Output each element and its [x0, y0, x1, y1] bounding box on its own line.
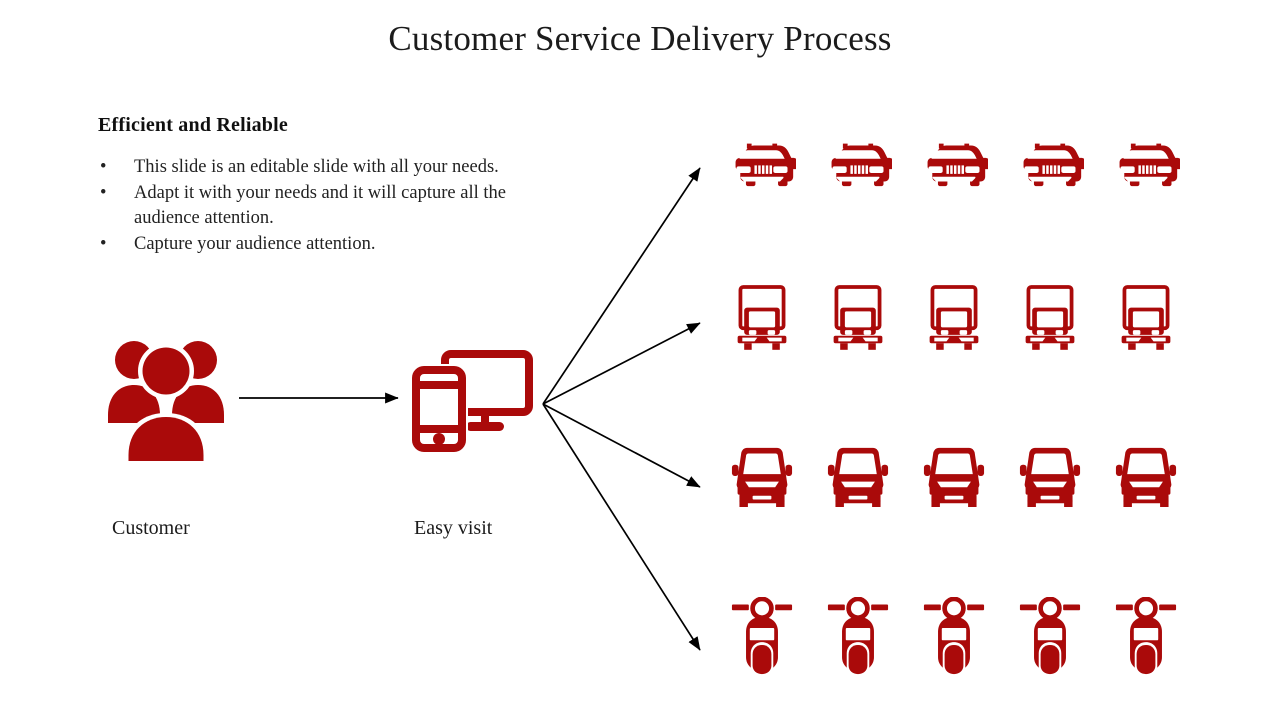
truck-front-icon — [714, 283, 810, 351]
van-front-icon — [1098, 445, 1194, 507]
scooter-front-icon — [906, 597, 1002, 676]
fleet-row-vans — [714, 445, 1194, 507]
arrow-fanout-trucks — [543, 323, 700, 404]
car-front-icon — [906, 138, 1002, 189]
stage-label-easy-visit: Easy visit — [414, 517, 492, 540]
van-front-icon — [714, 445, 810, 507]
slide-canvas: Customer Service Delivery Process Effici… — [0, 0, 1280, 720]
car-front-icon — [810, 138, 906, 189]
lead-heading: Efficient and Reliable — [98, 114, 288, 137]
scooter-front-icon — [714, 597, 810, 676]
list-item: • This slide is an editable slide with a… — [98, 155, 558, 181]
van-front-icon — [906, 445, 1002, 507]
car-front-icon — [1098, 138, 1194, 189]
list-item: • Adapt it with your needs and it will c… — [98, 181, 558, 232]
list-item-text: This slide is an editable slide with all… — [134, 157, 499, 177]
fleet-row-cars — [714, 138, 1194, 189]
arrow-fanout-vans — [543, 404, 700, 487]
arrow-fanout-cars — [543, 168, 700, 404]
phone-monitor-icon — [408, 348, 534, 452]
fleet-row-scooters — [714, 597, 1194, 676]
car-front-icon — [1002, 138, 1098, 189]
car-front-icon — [714, 138, 810, 189]
scooter-front-icon — [1002, 597, 1098, 676]
bullet-marker-icon: • — [100, 232, 106, 258]
bullet-marker-icon: • — [100, 181, 106, 207]
list-item-text: Capture your audience attention. — [134, 234, 375, 254]
bullet-list: • This slide is an editable slide with a… — [98, 155, 558, 257]
truck-front-icon — [1002, 283, 1098, 351]
list-item: • Capture your audience attention. — [98, 232, 558, 258]
scooter-front-icon — [1098, 597, 1194, 676]
list-item-text: Adapt it with your needs and it will cap… — [134, 183, 506, 229]
stage-label-customer: Customer — [112, 517, 190, 540]
truck-front-icon — [810, 283, 906, 351]
truck-front-icon — [1098, 283, 1194, 351]
people-group-icon — [100, 333, 232, 461]
van-front-icon — [810, 445, 906, 507]
scooter-front-icon — [810, 597, 906, 676]
bullet-marker-icon: • — [100, 155, 106, 181]
van-front-icon — [1002, 445, 1098, 507]
page-title: Customer Service Delivery Process — [0, 19, 1280, 59]
truck-front-icon — [906, 283, 1002, 351]
fleet-row-trucks — [714, 283, 1194, 351]
arrow-fanout-scooters — [543, 404, 700, 650]
